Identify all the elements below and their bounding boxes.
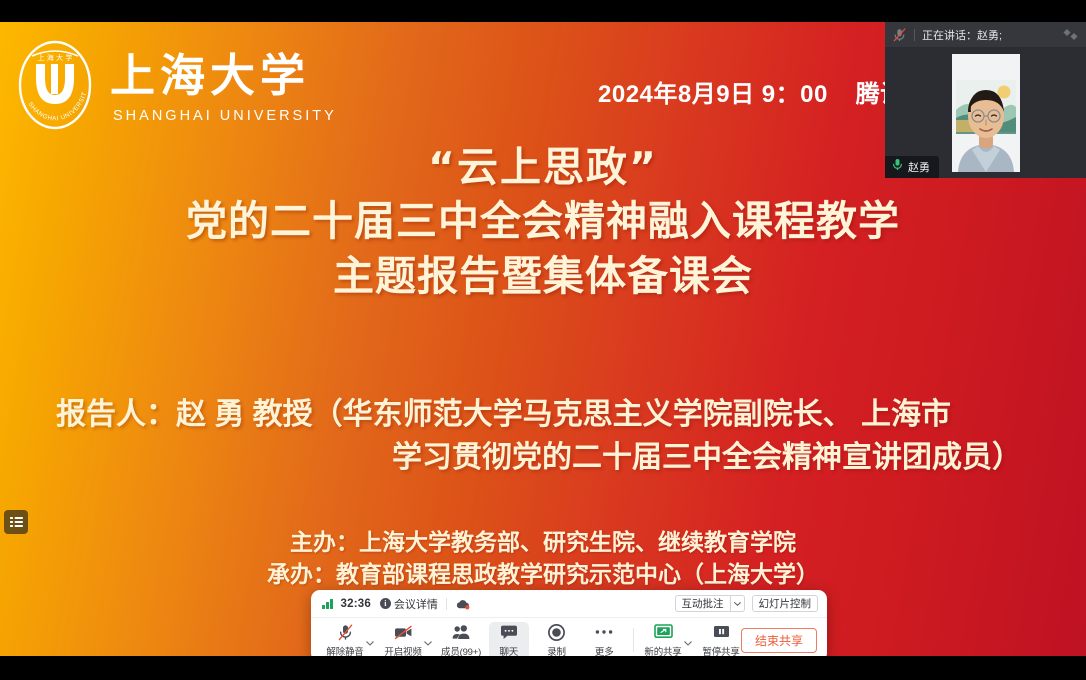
chat-button[interactable]: 聊天 <box>489 622 529 657</box>
toolbar-actions-row: 解除静音 开 <box>311 618 827 656</box>
slide-control-label: 幻灯片控制 <box>759 596 812 611</box>
pause-share-icon <box>713 624 730 641</box>
organizer-line-host: 主办：上海大学教务部、研究生院、继续教育学院 <box>0 527 1086 559</box>
slide-title-line-3: 主题报告暨集体备课会 <box>0 249 1086 304</box>
event-datetime-line: 2024年8月9日 9：00 腾讯会 <box>598 74 929 109</box>
collapse-arrows-icon[interactable] <box>1062 28 1080 42</box>
letterbox-bar-bottom <box>0 656 1086 680</box>
ellipsis-icon <box>595 624 613 641</box>
pause-share-button[interactable]: 暂停共享 <box>701 622 741 657</box>
university-name-cn: 上海大学 <box>110 52 337 99</box>
header-divider <box>914 29 915 41</box>
more-button[interactable]: 更多 <box>584 622 624 657</box>
meeting-detail-label: 会议详情 <box>394 596 438 612</box>
toolbar-status-row: 32:36 i 会议详情 互动批注 <box>311 590 827 618</box>
end-share-button[interactable]: 结束共享 <box>741 628 817 653</box>
end-share-label: 结束共享 <box>755 632 803 649</box>
meeting-control-toolbar: 32:36 i 会议详情 互动批注 <box>311 590 827 656</box>
chevron-down-icon <box>684 641 692 646</box>
new-share-button[interactable]: 新的共享 <box>643 622 683 657</box>
microphone-muted-icon[interactable] <box>893 28 906 42</box>
chevron-down-icon <box>734 602 741 606</box>
university-logo: 上 海 大 学 SHANGHAI UNIVERSITY 上海大学 SHANGHA… <box>14 38 337 132</box>
members-label: 成员(99+) <box>441 644 481 657</box>
speaker-info-block: 报告人：赵 勇 教授（华东师范大学马克思主义学院副院长、 上海市 学习贯彻党的二… <box>56 394 1030 479</box>
slide-control-button[interactable]: 幻灯片控制 <box>752 595 819 612</box>
record-circle-icon <box>548 624 565 641</box>
unmute-button[interactable]: 解除静音 <box>325 622 365 657</box>
record-label: 录制 <box>547 644 566 657</box>
start-video-button[interactable]: 开启视频 <box>383 622 423 657</box>
university-seal-icon: 上 海 大 学 SHANGHAI UNIVERSITY <box>14 38 96 132</box>
chevron-down-icon <box>424 641 432 646</box>
annotation-dropdown-button[interactable] <box>730 595 745 612</box>
left-panel-toggle-button[interactable] <box>4 510 28 534</box>
speaker-line-2: 学习贯彻党的二十届三中全会精神宣讲团成员） <box>56 437 1030 480</box>
chat-bubble-icon <box>500 624 518 641</box>
meeting-detail-button[interactable]: i 会议详情 <box>380 596 438 612</box>
organizer-line-coorganizer: 承办：教育部课程思政教学研究示范中心（上海大学） <box>0 559 1086 591</box>
toolbar-divider <box>446 598 447 610</box>
university-name-en: SHANGHAI UNIVERSITY <box>113 108 337 124</box>
speaker-line-1: 报告人：赵 勇 教授（华东师范大学马克思主义学院副院长、 上海市 <box>56 394 1030 437</box>
new-share-label: 新的共享 <box>644 644 681 657</box>
record-button[interactable]: 录制 <box>537 622 577 657</box>
video-options-caret[interactable] <box>423 641 432 646</box>
toolbar-divider <box>633 628 634 652</box>
letterbox-bar-top <box>0 0 1086 22</box>
cloud-record-icon[interactable] <box>455 598 470 610</box>
start-video-label: 开启视频 <box>384 644 421 657</box>
chevron-down-icon <box>366 641 374 646</box>
chat-label: 聊天 <box>499 644 518 657</box>
svg-text:上 海 大 学: 上 海 大 学 <box>38 53 73 62</box>
participant-name: 赵勇 <box>908 159 930 175</box>
video-stage[interactable]: 赵勇 <box>885 48 1086 178</box>
organizer-block: 主办：上海大学教务部、研究生院、继续教育学院 承办：教育部课程思政教学研究示范中… <box>0 527 1086 590</box>
toolbar-status-actions: 互动批注 幻灯片控制 <box>675 595 819 612</box>
microphone-active-icon <box>892 158 903 176</box>
audio-options-caret[interactable] <box>365 641 374 646</box>
video-panel-header: 正在讲话：赵勇; <box>885 22 1086 48</box>
active-speaker-video-panel[interactable]: 正在讲话：赵勇; <box>885 22 1086 178</box>
share-screen-icon <box>654 624 673 641</box>
annotation-button[interactable]: 互动批注 <box>675 595 730 612</box>
meeting-timer: 32:36 <box>341 598 371 610</box>
members-icon <box>452 624 471 641</box>
slide-title-line-2: 党的二十届三中全会精神融入课程教学 <box>0 194 1086 249</box>
event-datetime: 2024年8月9日 9：00 <box>598 74 828 109</box>
members-button[interactable]: 成员(99+) <box>441 622 481 657</box>
participant-video-feed <box>952 54 1020 172</box>
speaking-now-label: 正在讲话：赵勇; <box>922 27 1002 43</box>
unmute-label: 解除静音 <box>326 644 363 657</box>
camera-off-icon <box>394 624 413 641</box>
network-signal-icon <box>322 598 333 609</box>
microphone-muted-icon <box>338 624 353 641</box>
share-options-caret[interactable] <box>683 641 692 646</box>
list-panel-icon <box>10 516 23 528</box>
university-logo-text: 上海大学 SHANGHAI UNIVERSITY <box>110 46 337 124</box>
participant-name-badge: 赵勇 <box>885 156 939 178</box>
annotation-label: 互动批注 <box>682 596 724 611</box>
pause-share-label: 暂停共享 <box>702 644 739 657</box>
more-label: 更多 <box>595 644 614 657</box>
info-icon: i <box>380 598 391 609</box>
screen-root: 上 海 大 学 SHANGHAI UNIVERSITY 上海大学 SHANGHA… <box>0 0 1086 680</box>
